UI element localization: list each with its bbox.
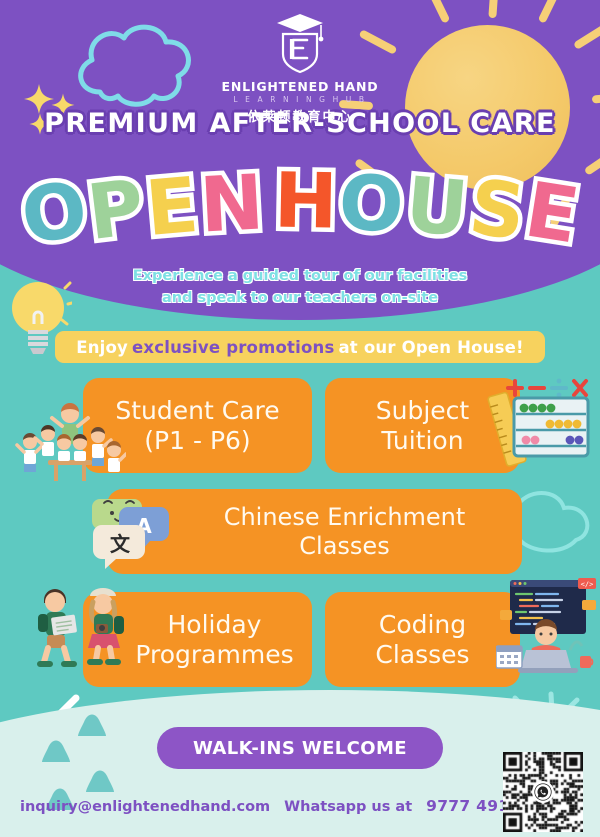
title-letter: N	[198, 165, 265, 244]
contact-whatsapp-label: Whatsapp us at	[284, 799, 412, 815]
title-letter: S	[465, 169, 529, 251]
promo-suffix: at our Open House!	[338, 338, 523, 357]
svg-text:</>: </>	[581, 581, 594, 589]
promo-prefix: Enjoy	[76, 338, 128, 357]
subtitle-line-2: and speak to our teachers on-site	[162, 290, 438, 306]
speech-bubbles-translate-illustration: A 文	[92, 493, 178, 573]
promo-banner: Enjoy exclusive promotions at our Open H…	[55, 331, 545, 363]
program-card-label: Student Care(P1 - P6)	[115, 396, 279, 455]
coding-laptop-illustration: </>	[496, 572, 600, 678]
program-card-label: SubjectTuition	[376, 396, 469, 455]
contact-row: inquiry@enlightenedhand.com Whatsapp us …	[20, 797, 521, 815]
title-letter: E	[521, 171, 584, 254]
brand-name-en: ENLIGHTENED HAND	[0, 79, 600, 94]
title-letter	[265, 163, 272, 239]
walk-ins-welcome-button[interactable]: WALK-INS WELCOME	[157, 727, 443, 769]
poster-canvas: ENLIGHTENED HAND L E A R N I N G H U B 依…	[0, 0, 600, 837]
title-letter: E	[143, 167, 201, 247]
page-title: OPEN HOUSE	[0, 162, 600, 251]
contact-email[interactable]: inquiry@enlightenedhand.com	[20, 799, 270, 815]
title-letter: P	[84, 169, 149, 251]
promo-highlight: exclusive promotions	[132, 338, 334, 357]
walk-ins-label: WALK-INS WELCOME	[193, 738, 407, 759]
program-card-label: CodingClasses	[375, 610, 469, 669]
title-letter: O	[337, 165, 405, 244]
page-subtitle: Experience a guided tour of our faciliti…	[0, 265, 600, 310]
brand-name-zh: 依莱顿教育中心	[0, 106, 600, 125]
svg-text:文: 文	[110, 532, 131, 556]
program-card-coding-classes[interactable]: CodingClasses	[325, 592, 520, 687]
students-and-teacher-illustration	[8, 398, 126, 484]
title-letter: H	[273, 163, 338, 240]
abacus-and-ruler-illustration	[486, 372, 594, 472]
brand-logo: ENLIGHTENED HAND L E A R N I N G H U B 依…	[0, 8, 600, 125]
brand-tagline-en: L E A R N I N G H U B	[0, 95, 600, 104]
title-letter: O	[16, 170, 92, 255]
children-hiking-illustration	[26, 578, 132, 670]
whatsapp-qr-code[interactable]	[503, 752, 583, 832]
title-letter: U	[403, 167, 471, 248]
whatsapp-icon	[532, 781, 554, 803]
subtitle-line-1: Experience a guided tour of our faciliti…	[133, 268, 468, 284]
program-card-label: Chinese EnrichmentClasses	[164, 503, 466, 560]
graduation-cap-shield-logo-icon	[269, 8, 331, 74]
